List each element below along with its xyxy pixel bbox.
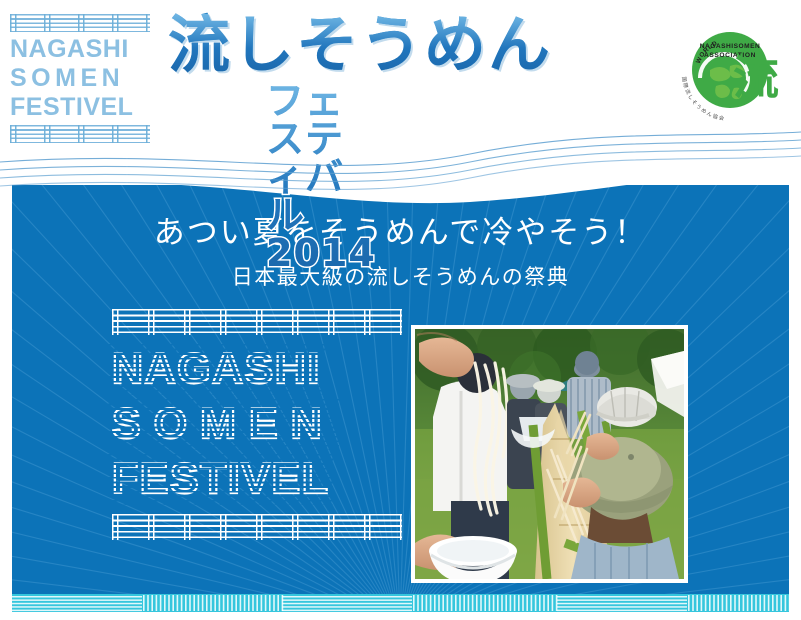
logo-kanji-nagare: 流 <box>733 51 779 105</box>
festival-photo <box>415 329 684 579</box>
wordmark-top-plaid-band <box>112 309 402 335</box>
brand-wordmark: NAGASHI SOMEN FESTIVEL <box>10 37 150 120</box>
logo-line2: NAGASHISOMEN <box>700 43 761 50</box>
festival-wordmark: NAGASHI SOMEN FESTIVEL <box>112 309 402 571</box>
wordmark-line-3: FESTIVEL <box>112 458 402 501</box>
subheadline-text: 日本最大級の流しそうめんの祭典 <box>12 261 789 291</box>
wordmark-line-1: NAGASHI <box>112 348 402 391</box>
wordmark-line-2: SOMEN <box>112 403 402 446</box>
headline-block: あつい夏をそうめんで冷やそう！ 日本最大級の流しそうめんの祭典 <box>12 216 789 291</box>
brand-line-1: NAGASHI <box>10 37 150 62</box>
festival-photo-frame <box>411 325 688 583</box>
headline-text: あつい夏をそうめんで冷やそう！ <box>12 216 789 252</box>
wordmark-bottom-plaid-band <box>112 514 402 540</box>
wordmark-letters: NAGASHI SOMEN FESTIVEL <box>112 335 402 514</box>
title-main-stroke: 流しそうめん <box>168 14 552 76</box>
title-main-fill: 流しそうめん <box>168 14 552 76</box>
bottom-decorative-band <box>12 594 789 612</box>
brand-line-2: SOMEN <box>10 66 150 91</box>
brand-line-3: FESTIVEL <box>10 95 150 120</box>
world-nagashisomen-association-logo: WORLD NAGASHISOMEN ASSOCIATION 流 国際流しそうめ… <box>676 18 784 126</box>
brand-top-plaid-band <box>10 14 150 32</box>
header-wave-divider <box>0 120 801 195</box>
poster-canvas: あつい夏をそうめんで冷やそう！ 日本最大級の流しそうめんの祭典 NAGASHI … <box>0 0 801 620</box>
